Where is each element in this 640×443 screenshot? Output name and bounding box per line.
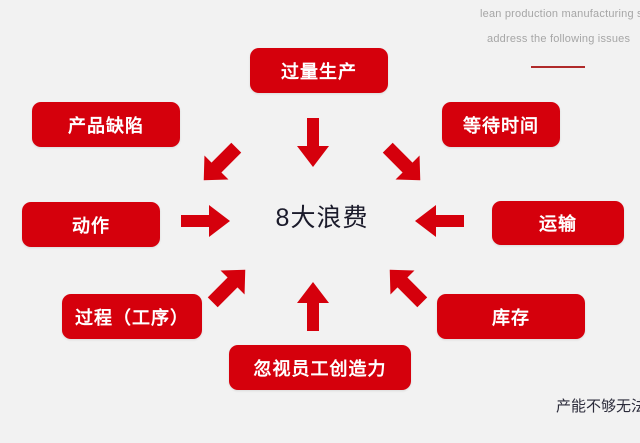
arrow-down-right-icon bbox=[196, 140, 244, 188]
waste-box-process[interactable]: 过程（工序） bbox=[62, 294, 202, 339]
arrow-left-icon bbox=[415, 204, 465, 238]
header-line-1: lean production manufacturing systems bbox=[480, 8, 640, 20]
arrow-right-icon bbox=[181, 204, 231, 238]
arrow-up-icon bbox=[296, 282, 330, 332]
header-divider-rule bbox=[531, 66, 585, 68]
waste-box-transport[interactable]: 运输 bbox=[492, 201, 624, 245]
waste-box-overproduction[interactable]: 过量生产 bbox=[250, 48, 388, 93]
header-line-2: address the following issues bbox=[487, 33, 630, 45]
slide-canvas: lean production manufacturing systems ad… bbox=[0, 0, 640, 443]
arrow-up-left-icon bbox=[382, 262, 430, 310]
waste-box-motion[interactable]: 动作 bbox=[22, 202, 160, 247]
waste-box-inventory[interactable]: 库存 bbox=[437, 294, 585, 339]
arrow-down-icon bbox=[296, 118, 330, 168]
waste-box-defects[interactable]: 产品缺陷 bbox=[32, 102, 180, 147]
footer-text: 产能不够无法 bbox=[556, 395, 640, 416]
diagram-center-label: 8大浪费 bbox=[248, 196, 396, 236]
waste-box-waiting[interactable]: 等待时间 bbox=[442, 102, 560, 147]
arrow-down-left-icon bbox=[380, 140, 428, 188]
arrow-up-right-icon bbox=[205, 262, 253, 310]
waste-box-creativity[interactable]: 忽视员工创造力 bbox=[229, 345, 411, 390]
